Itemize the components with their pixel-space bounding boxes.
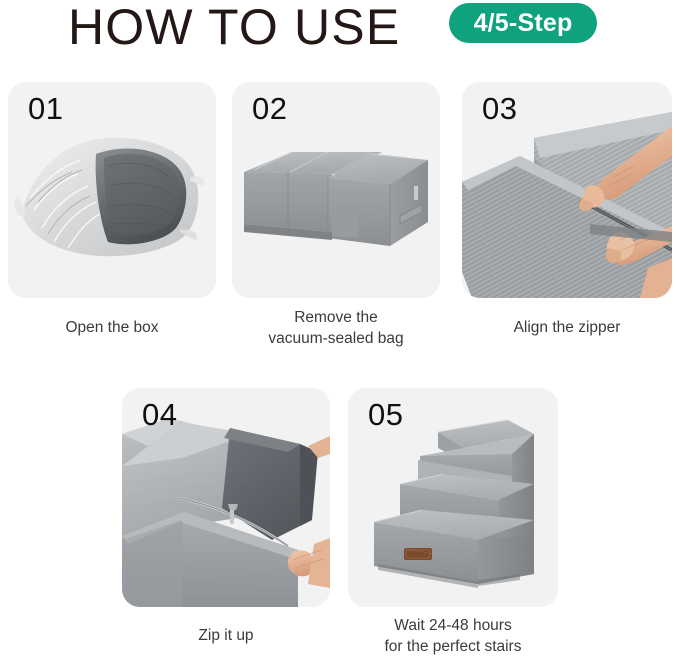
step-number-02: 02 [252, 92, 287, 126]
step-caption-04: Zip it up [122, 625, 330, 646]
step-count-badge: 4/5-Step [449, 3, 597, 43]
step-card-03: 03 [462, 82, 672, 298]
caption-line: Open the box [8, 317, 216, 338]
caption-line: for the perfect stairs [348, 636, 558, 657]
header: HOW TO USE 4/5-Step [0, 0, 679, 62]
step-card-01: 01 [8, 82, 216, 298]
step-number-01: 01 [28, 92, 63, 126]
caption-line: vacuum-sealed bag [232, 328, 440, 349]
step-caption-02: Remove the vacuum-sealed bag [232, 307, 440, 349]
step-caption-01: Open the box [8, 317, 216, 338]
how-to-use-infographic: HOW TO USE 4/5-Step [0, 0, 679, 663]
step-number-05: 05 [368, 398, 403, 432]
caption-line: Align the zipper [462, 317, 672, 338]
step-card-04: 04 [122, 388, 330, 607]
caption-line: Wait 24-48 hours [348, 615, 558, 636]
step-count-badge-label: 4/5-Step [474, 11, 573, 36]
caption-line: Remove the [232, 307, 440, 328]
step-card-02: 02 [232, 82, 440, 298]
step-number-04: 04 [142, 398, 177, 432]
step-number-03: 03 [482, 92, 517, 126]
page-title: HOW TO USE [68, 0, 400, 55]
caption-line: Zip it up [122, 625, 330, 646]
step-caption-05: Wait 24-48 hours for the perfect stairs [348, 615, 558, 657]
step-caption-03: Align the zipper [462, 317, 672, 338]
step-card-05: 05 [348, 388, 558, 607]
